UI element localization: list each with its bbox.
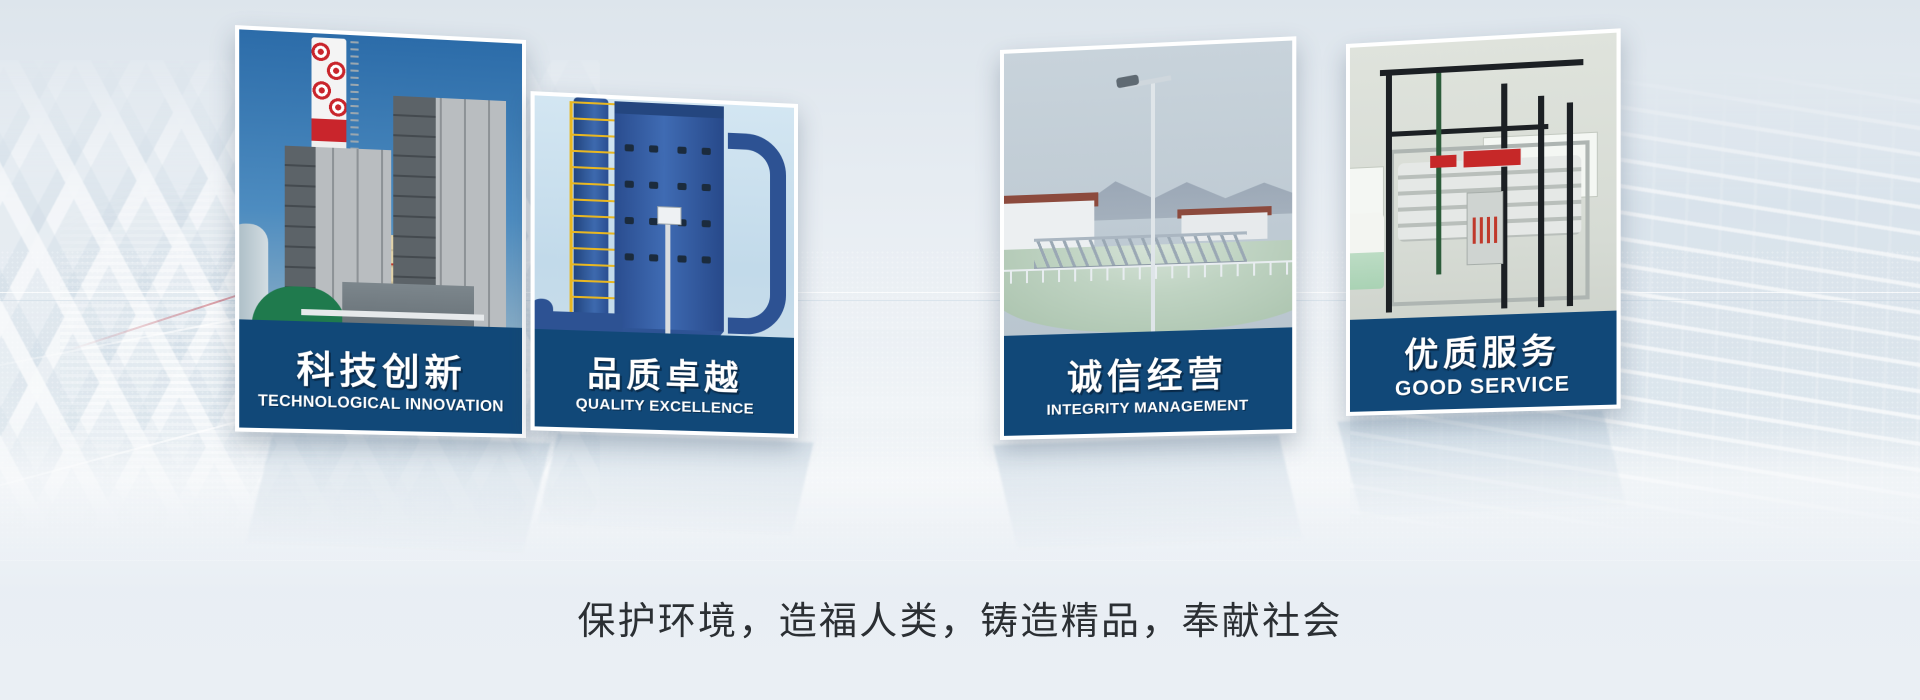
photo4-red-sign (1463, 148, 1522, 169)
panel-technological-innovation[interactable]: 科技创新 TECHNOLOGICAL INNOVATION (235, 25, 526, 438)
panel-integrity-management[interactable]: 诚信经营 INTEGRITY MANAGEMENT (1000, 36, 1296, 440)
caption-cn-1: 科技创新 (296, 338, 466, 397)
banner-tagline: 保护环境，造福人类，铸造精品，奉献社会 (0, 590, 1920, 645)
caption-cn-3: 诚信经营 (1067, 345, 1228, 401)
caption-integrity-management: 诚信经营 INTEGRITY MANAGEMENT (1004, 327, 1292, 436)
banner-stage: 科技创新 TECHNOLOGICAL INNOVATION (0, 0, 1920, 700)
caption-cn-2: 品质卓越 (587, 346, 743, 400)
photo3-lamp-pole (1151, 81, 1155, 331)
caption-technological-innovation: 科技创新 TECHNOLOGICAL INNOVATION (239, 319, 522, 434)
photo4-chemical-dosing-tank (1346, 212, 1384, 290)
photo1-chimney-stack (312, 37, 347, 152)
photo4-control-panel (1467, 191, 1504, 265)
photo2-yellow-ladder-cage (570, 101, 619, 332)
caption-quality-excellence: 品质卓越 QUALITY EXCELLENCE (535, 329, 794, 434)
caption-en-4: GOOD SERVICE (1395, 372, 1570, 401)
caption-good-service: 优质服务 GOOD SERVICE (1350, 311, 1617, 412)
caption-cn-4: 优质服务 (1404, 322, 1560, 377)
photo4-pipe-vertical-1 (1386, 69, 1392, 312)
panel-quality-excellence[interactable]: 品质卓越 QUALITY EXCELLENCE (531, 91, 798, 438)
photo2-control-box (657, 206, 681, 225)
photo4-sign-small (1430, 155, 1456, 168)
photo2-return-duct (728, 133, 786, 336)
panel-good-service[interactable]: 优质服务 GOOD SERVICE (1346, 28, 1621, 416)
photo4-green-pipe (1436, 73, 1441, 275)
photo4-pipe-vertical-4 (1567, 102, 1573, 306)
caption-en-1: TECHNOLOGICAL INNOVATION (258, 392, 504, 416)
